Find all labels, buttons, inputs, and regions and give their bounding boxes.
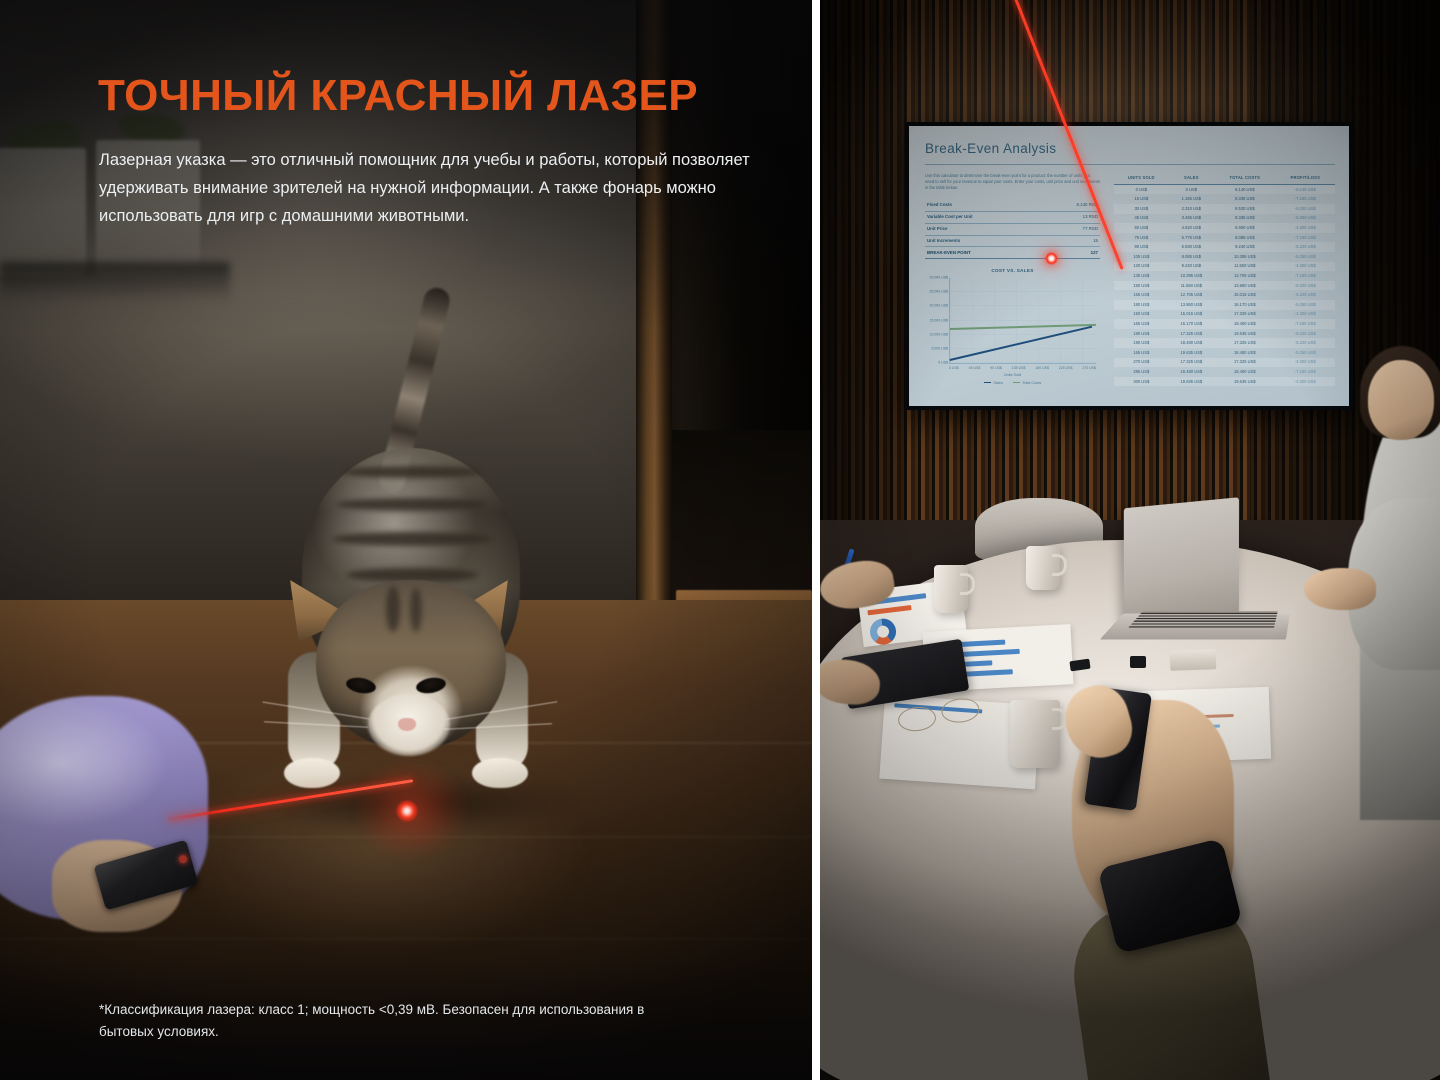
cat-forehead-stripe <box>410 588 422 632</box>
param-row: Unit Price 77 RSD <box>925 223 1100 235</box>
table-cell: 13.860 US$ <box>1169 300 1214 310</box>
table-cell: 10.395 US$ <box>1214 252 1275 262</box>
table-cell: 0 US$ <box>1114 184 1169 194</box>
y-tick: 15.000 US$ <box>930 318 949 323</box>
table-row: 75 US$5.775 US$8.085 US$-7.180 US$ <box>1114 233 1335 243</box>
participant-hands <box>1304 568 1376 610</box>
table-cell: 17.325 US$ <box>1214 338 1275 348</box>
laptop-keyboard <box>1129 611 1278 627</box>
table-row: 120 US$9.240 US$11.550 US$-4.300 US$ <box>1114 262 1335 272</box>
table-cell: -8.140 US$ <box>1276 184 1335 194</box>
table-row: 165 US$12.705 US$15.015 US$-6.220 US$ <box>1114 290 1335 300</box>
table-cell: -4.300 US$ <box>1276 310 1335 320</box>
plant-pot <box>0 148 86 276</box>
table-cell: -7.180 US$ <box>1276 319 1335 329</box>
column-header-sales: SALES <box>1169 173 1214 185</box>
table-cell: 19.635 US$ <box>1214 329 1275 339</box>
table-row: 90 US$6.930 US$9.240 US$-6.220 US$ <box>1114 242 1335 252</box>
break-even-row: BREAK-EVEN POINT 127 <box>925 247 1100 259</box>
table-cell: 10.395 US$ <box>1169 271 1214 281</box>
coffee-mug <box>934 565 968 613</box>
cat-paw <box>284 758 340 788</box>
page-title: ТОЧНЫЙ КРАСНЫЙ ЛАЗЕР <box>98 74 698 118</box>
column-header-total-costs: TOTAL COSTS <box>1214 173 1275 185</box>
cat-forehead-stripe <box>386 586 400 632</box>
table-cell: -4.300 US$ <box>1276 223 1335 233</box>
table-cell: 4.620 US$ <box>1169 223 1214 233</box>
table-cell: 90 US$ <box>1114 242 1169 252</box>
table-cell: -4.300 US$ <box>1276 262 1335 272</box>
x-tick: 270 US$ <box>1082 366 1096 371</box>
laser-dot-on-slide <box>1045 252 1058 265</box>
donut-chart <box>869 617 898 646</box>
slide-right-column: UNITS SOLD SALES TOTAL COSTS PROFIT/LOSS… <box>1114 173 1335 387</box>
table-cell: 0 US$ <box>1169 184 1214 194</box>
x-axis-ticks: 0 US$ 45 US$ 90 US$ 135 US$ 180 US$ 225 … <box>949 366 1096 371</box>
table-cell: 17.325 US$ <box>1169 329 1214 339</box>
table-row: 150 US$15.015 US$17.325 US$-4.300 US$ <box>1114 310 1335 320</box>
table-cell: 18.480 US$ <box>1169 338 1214 348</box>
wall-shadow-left <box>820 0 906 560</box>
product-banner: ТОЧНЫЙ КРАСНЫЙ ЛАЗЕР Лазерная указка — э… <box>0 0 1440 1080</box>
presentation-display: Break-Even Analysis Use this calculator … <box>905 122 1353 410</box>
table-row: 30 US$2.310 US$8.530 US$-6.220 US$ <box>1114 204 1335 214</box>
table-row: 300 US$19.635 US$19.635 US$-4.300 US$ <box>1114 377 1335 387</box>
table-cell: 45 US$ <box>1114 214 1169 224</box>
table-cell: 13.860 US$ <box>1214 281 1275 291</box>
table-cell: -4.300 US$ <box>1276 377 1335 387</box>
table-cell: 270 US$ <box>1114 358 1169 368</box>
table-cell: 2.310 US$ <box>1169 204 1214 214</box>
x-tick: 225 US$ <box>1059 366 1073 371</box>
param-row: Fixed Costs 8.140 RSD <box>925 200 1100 211</box>
x-tick: 0 US$ <box>949 366 959 371</box>
param-label: Unit Price <box>925 223 1041 235</box>
table-cell: 17.325 US$ <box>1169 358 1214 368</box>
table-cell: 18.480 US$ <box>1214 319 1275 329</box>
floor-plank-line <box>0 938 812 940</box>
participant-head <box>1368 360 1434 440</box>
x-axis-label: Units Sold <box>925 373 1100 379</box>
table-cell: -5.260 US$ <box>1276 252 1335 262</box>
table-cell: 190 US$ <box>1114 338 1169 348</box>
legend-item-sales: Sales <box>984 381 1003 387</box>
table-cell: 15.015 US$ <box>1169 310 1214 320</box>
coffee-mug <box>1026 546 1060 590</box>
table-cell: 8.085 US$ <box>1214 233 1275 243</box>
table-cell: 3.465 US$ <box>1169 214 1214 224</box>
table-cell: 11.550 US$ <box>1214 262 1275 272</box>
param-row: Variable Cost per Unit 13 RSD <box>925 211 1100 223</box>
param-value: 77 RSD <box>1041 223 1100 235</box>
y-tick: 30.000 US$ <box>930 276 949 281</box>
legend-item-total-costs: Total Costs <box>1013 381 1041 387</box>
y-tick: 0 US$ <box>938 361 948 366</box>
coffee-mug <box>1010 700 1060 768</box>
series-line-total-costs <box>950 324 1096 330</box>
param-label: Fixed Costs <box>925 200 1041 211</box>
table-cell: 8.140 US$ <box>1214 184 1275 194</box>
table-row: 180 US$13.860 US$16.170 US$-5.260 US$ <box>1114 300 1335 310</box>
table-cell: -6.220 US$ <box>1276 281 1335 291</box>
table-cell: 300 US$ <box>1114 377 1169 387</box>
table-cell: -5.260 US$ <box>1276 348 1335 358</box>
chart-legend: Sales Total Costs <box>925 381 1100 387</box>
column-header-profit-loss: PROFIT/LOSS <box>1276 173 1335 185</box>
table-cell: 180 US$ <box>1114 300 1169 310</box>
desk-item <box>1130 656 1146 668</box>
table-row: 165 US$16.170 US$18.480 US$-7.180 US$ <box>1114 319 1335 329</box>
parameters-table: Fixed Costs 8.140 RSD Variable Cost per … <box>925 200 1100 260</box>
display-screen: Break-Even Analysis Use this calculator … <box>909 126 1349 406</box>
column-header-units-sold: UNITS SOLD <box>1114 173 1169 185</box>
table-cell: 12.705 US$ <box>1214 271 1275 281</box>
table-cell: 285 US$ <box>1114 367 1169 377</box>
table-cell: 9.240 US$ <box>1169 262 1214 272</box>
param-value: 8.140 RSD <box>1041 200 1100 211</box>
slide-title: Break-Even Analysis <box>925 139 1335 159</box>
table-cell: -6.220 US$ <box>1276 204 1335 214</box>
y-tick: 10.000 US$ <box>930 332 949 337</box>
table-cell: 75 US$ <box>1114 233 1169 243</box>
table-row: 15 US$1.155 US$8.335 US$-7.180 US$ <box>1114 194 1335 204</box>
laser-class-footnote: *Классификация лазера: класс 1; мощность… <box>99 999 699 1043</box>
table-cell: 150 US$ <box>1114 310 1169 320</box>
table-cell: 19.635 US$ <box>1169 348 1214 358</box>
table-cell: -6.220 US$ <box>1276 329 1335 339</box>
param-label: BREAK-EVEN POINT <box>925 247 1041 259</box>
cat <box>250 280 570 825</box>
table-cell: 6.900 US$ <box>1214 223 1275 233</box>
y-tick: 5.000 US$ <box>931 346 948 351</box>
laptop-screen <box>1124 497 1239 621</box>
table-cell: 5.775 US$ <box>1169 233 1214 243</box>
param-label: Variable Cost per Unit <box>925 211 1041 223</box>
table-row: 105 US$8.085 US$10.395 US$-5.260 US$ <box>1114 252 1335 262</box>
table-cell: -7.180 US$ <box>1276 233 1335 243</box>
table-cell: 135 US$ <box>1114 271 1169 281</box>
table-row: 0 US$0 US$8.140 US$-8.140 US$ <box>1114 184 1335 194</box>
right-scene-meeting: Break-Even Analysis Use this calculator … <box>820 0 1440 1080</box>
table-cell: 15.015 US$ <box>1214 290 1275 300</box>
cat-nose <box>398 718 416 731</box>
cost-vs-sales-chart: 30.000 US$ 25.000 US$ 20.000 US$ 15.000 … <box>949 278 1096 364</box>
cat-stripe <box>332 532 492 546</box>
table-cell: 12.705 US$ <box>1169 290 1214 300</box>
table-row: 45 US$3.465 US$8.335 US$-5.260 US$ <box>1114 214 1335 224</box>
panel-divider <box>812 0 820 1080</box>
cat-stripe <box>342 466 482 478</box>
slide-title-rule <box>925 164 1335 165</box>
table-cell: -6.220 US$ <box>1276 338 1335 348</box>
slide-left-column: Use this calculator to determine the bre… <box>925 173 1100 387</box>
table-cell: -5.260 US$ <box>1276 214 1335 224</box>
table-row: 135 US$10.395 US$12.705 US$-7.180 US$ <box>1114 271 1335 281</box>
slide-description: Use this calculator to determine the bre… <box>925 173 1100 192</box>
table-header-row: UNITS SOLD SALES TOTAL COSTS PROFIT/LOSS <box>1114 173 1335 185</box>
table-row: 270 US$17.325 US$17.325 US$-4.300 US$ <box>1114 358 1335 368</box>
table-cell: 165 US$ <box>1114 290 1169 300</box>
x-tick: 180 US$ <box>1035 366 1049 371</box>
table-row: 60 US$4.620 US$6.900 US$-4.300 US$ <box>1114 223 1335 233</box>
table-cell: -7.180 US$ <box>1276 194 1335 204</box>
y-tick: 20.000 US$ <box>930 304 949 309</box>
cat-stripe <box>336 498 488 511</box>
table-cell: -5.260 US$ <box>1276 300 1335 310</box>
shelf-shadow <box>0 262 230 302</box>
table-cell: 6.930 US$ <box>1169 242 1214 252</box>
table-cell: 30 US$ <box>1114 204 1169 214</box>
table-cell: -7.180 US$ <box>1276 367 1335 377</box>
x-tick: 45 US$ <box>969 366 981 371</box>
table-cell: -4.300 US$ <box>1276 358 1335 368</box>
table-body: 0 US$0 US$8.140 US$-8.140 US$15 US$1.155… <box>1114 184 1335 386</box>
table-cell: 8.085 US$ <box>1169 252 1214 262</box>
table-cell: 19.635 US$ <box>1169 377 1214 387</box>
table-cell: 8.335 US$ <box>1214 214 1275 224</box>
table-cell: 18.480 US$ <box>1169 367 1214 377</box>
table-cell: 180 US$ <box>1114 329 1169 339</box>
legend-label: Sales <box>993 381 1003 385</box>
x-tick: 135 US$ <box>1012 366 1026 371</box>
table-row: 180 US$17.325 US$19.635 US$-6.220 US$ <box>1114 329 1335 339</box>
chart-title: COST VS. SALES <box>925 268 1100 275</box>
slide-break-even-analysis: Break-Even Analysis Use this calculator … <box>909 126 1349 406</box>
table-cell: 8.530 US$ <box>1214 204 1275 214</box>
param-value: 13 RSD <box>1041 211 1100 223</box>
table-cell: 18.480 US$ <box>1214 367 1275 377</box>
param-row: Unit Increments 15 <box>925 235 1100 247</box>
table-cell: 17.325 US$ <box>1214 358 1275 368</box>
table-cell: 16.170 US$ <box>1169 319 1214 329</box>
table-cell: -6.220 US$ <box>1276 290 1335 300</box>
table-cell: 8.335 US$ <box>1214 194 1275 204</box>
left-scene-cat: ТОЧНЫЙ КРАСНЫЙ ЛАЗЕР Лазерная указка — э… <box>0 0 812 1080</box>
table-cell: 16.170 US$ <box>1214 300 1275 310</box>
param-value: 15 <box>1041 235 1100 247</box>
table-cell: 11.550 US$ <box>1169 281 1214 291</box>
table-cell: 165 US$ <box>1114 319 1169 329</box>
laser-dot <box>396 800 418 822</box>
cat-paw <box>472 758 528 788</box>
series-line-sales <box>950 326 1093 361</box>
table-cell: 165 US$ <box>1114 348 1169 358</box>
table-cell: 105 US$ <box>1114 252 1169 262</box>
param-label: Unit Increments <box>925 235 1041 247</box>
table-row: 165 US$19.635 US$18.480 US$-5.260 US$ <box>1114 348 1335 358</box>
table-cell: 17.325 US$ <box>1214 310 1275 320</box>
table-cell: 15 US$ <box>1114 194 1169 204</box>
table-row: 190 US$18.480 US$17.325 US$-6.220 US$ <box>1114 338 1335 348</box>
table-row: 285 US$18.480 US$18.480 US$-7.180 US$ <box>1114 367 1335 377</box>
table-cell: 150 US$ <box>1114 281 1169 291</box>
table-cell: -7.180 US$ <box>1276 271 1335 281</box>
table-cell: 9.240 US$ <box>1214 242 1275 252</box>
table-cell: -6.220 US$ <box>1276 242 1335 252</box>
desk-item <box>1170 649 1217 671</box>
table-cell: 1.155 US$ <box>1169 194 1214 204</box>
table-row: 150 US$11.550 US$13.860 US$-6.220 US$ <box>1114 281 1335 291</box>
legend-label: Total Costs <box>1022 381 1041 385</box>
y-tick: 25.000 US$ <box>930 290 949 295</box>
description-text: Лазерная указка — это отличный помощник … <box>99 146 759 230</box>
table-cell: 19.635 US$ <box>1214 377 1275 387</box>
break-even-data-table: UNITS SOLD SALES TOTAL COSTS PROFIT/LOSS… <box>1114 173 1335 387</box>
x-tick: 90 US$ <box>990 366 1002 371</box>
table-cell: 18.480 US$ <box>1214 348 1275 358</box>
table-cell: 60 US$ <box>1114 223 1169 233</box>
